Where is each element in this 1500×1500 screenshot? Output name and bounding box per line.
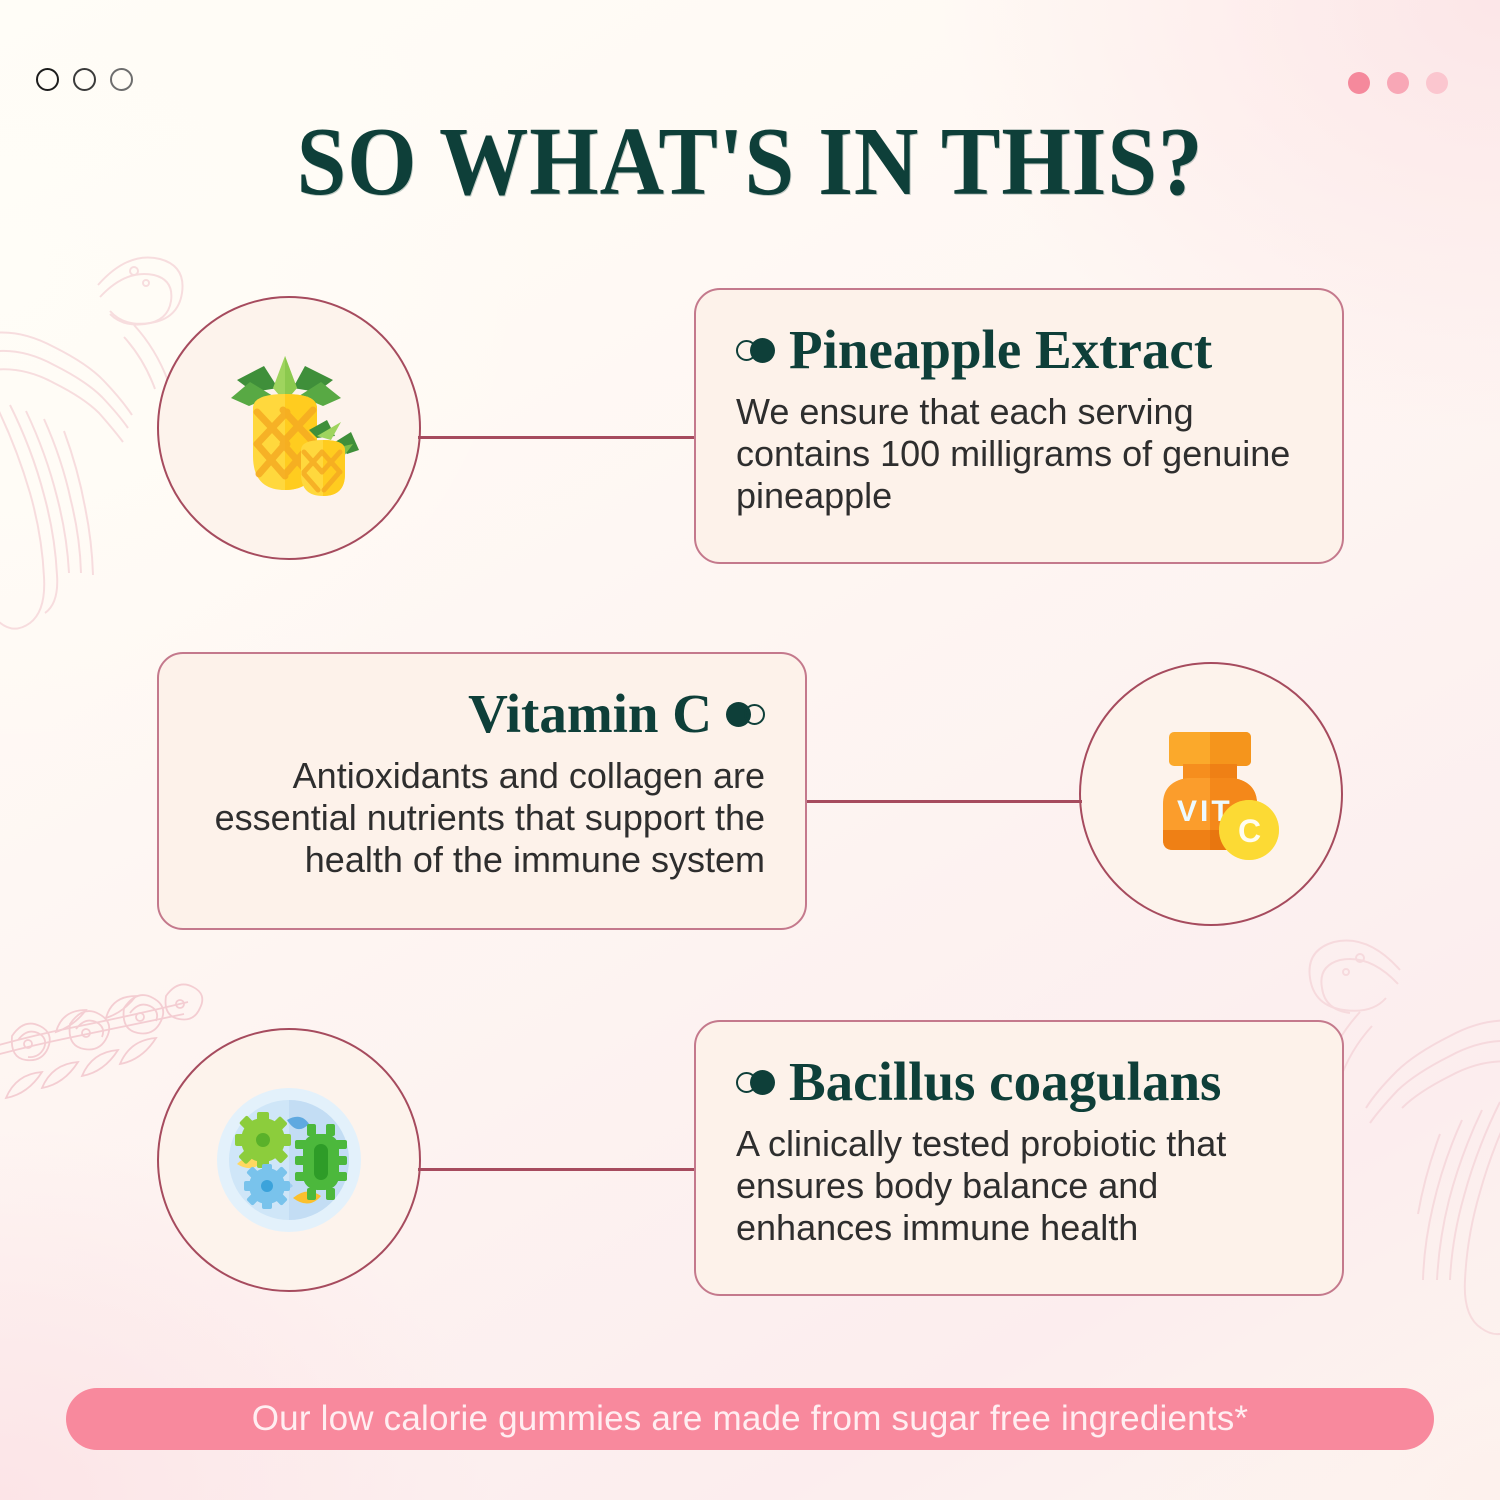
ingredient-row-vitamin-c: VIT C Vitamin C Antioxidants and collage… xyxy=(0,652,1500,942)
ingredient-title-row: Bacillus coagulans xyxy=(736,1052,1302,1113)
capsule-bullet-icon xyxy=(736,338,775,363)
page-title: SO WHAT'S IN THIS? xyxy=(60,112,1440,212)
dot-icon-3 xyxy=(1426,72,1448,94)
connector-line-bacillus xyxy=(418,1168,696,1171)
ingredient-card-pineapple-extract: Pineapple Extract We ensure that each se… xyxy=(694,288,1344,564)
ingredient-row-bacillus-coagulans: Bacillus coagulans A clinically tested p… xyxy=(0,1020,1500,1310)
ingredient-row-pineapple-extract: Pineapple Extract We ensure that each se… xyxy=(0,288,1500,578)
ingredient-description: A clinically tested probiotic that ensur… xyxy=(736,1123,1302,1250)
pineapple-medallion xyxy=(157,296,421,560)
ring-icon-2 xyxy=(73,68,96,91)
ingredient-title: Pineapple Extract xyxy=(789,320,1212,381)
pineapple-icon xyxy=(201,340,377,516)
probiotic-medallion xyxy=(157,1028,421,1292)
capsule-bullet-icon xyxy=(736,1070,775,1095)
infographic-page: SO WHAT'S IN THIS? xyxy=(0,0,1500,1500)
decorative-rings-left xyxy=(36,68,133,91)
petri-dish-probiotic-icon xyxy=(201,1072,377,1248)
ingredient-card-bacillus-coagulans: Bacillus coagulans A clinically tested p… xyxy=(694,1020,1344,1296)
ring-icon-3 xyxy=(110,68,133,91)
ingredient-card-vitamin-c: Vitamin C Antioxidants and collagen are … xyxy=(157,652,807,930)
footer-banner-text: Our low calorie gummies are made from su… xyxy=(252,1399,1249,1439)
decorative-dots-right xyxy=(1348,72,1448,94)
connector-line-vitamin-c xyxy=(804,800,1082,803)
vitamin-bottle-icon: VIT C xyxy=(1125,708,1297,880)
vitamin-c-badge-label: C xyxy=(1238,813,1261,849)
footer-banner: Our low calorie gummies are made from su… xyxy=(66,1388,1434,1450)
dot-icon-2 xyxy=(1387,72,1409,94)
ingredient-title: Vitamin C xyxy=(468,684,712,745)
vitamin-bottle-medallion: VIT C xyxy=(1079,662,1343,926)
dot-icon-1 xyxy=(1348,72,1370,94)
connector-line-pineapple xyxy=(418,436,696,439)
capsule-bullet-icon xyxy=(726,702,765,727)
ingredient-title: Bacillus coagulans xyxy=(789,1052,1221,1113)
ingredient-title-row: Vitamin C xyxy=(199,684,765,745)
ring-icon-1 xyxy=(36,68,59,91)
ingredient-description: Antioxidants and collagen are essential … xyxy=(199,755,765,882)
ingredient-description: We ensure that each serving contains 100… xyxy=(736,391,1302,518)
ingredient-title-row: Pineapple Extract xyxy=(736,320,1302,381)
